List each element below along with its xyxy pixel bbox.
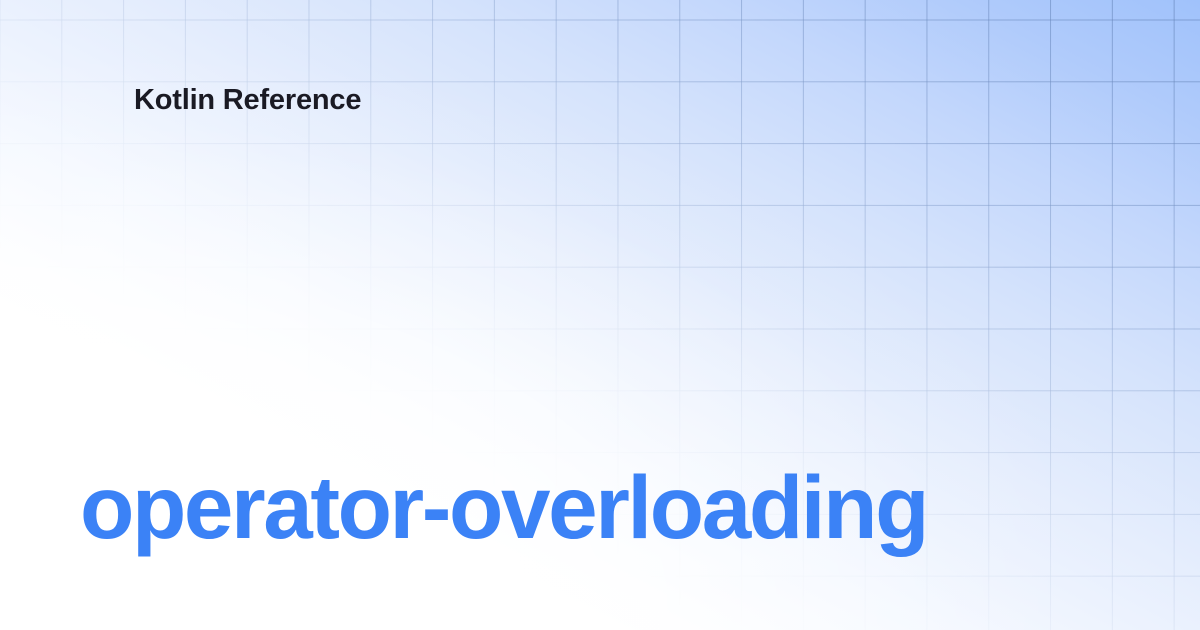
card-headline: operator-overloading: [80, 455, 1140, 559]
social-preview-card: Kotlin Reference operator-overloading: [0, 0, 1200, 630]
card-eyebrow-label: Kotlin Reference: [134, 80, 361, 120]
card-content: Kotlin Reference operator-overloading: [0, 0, 1200, 630]
